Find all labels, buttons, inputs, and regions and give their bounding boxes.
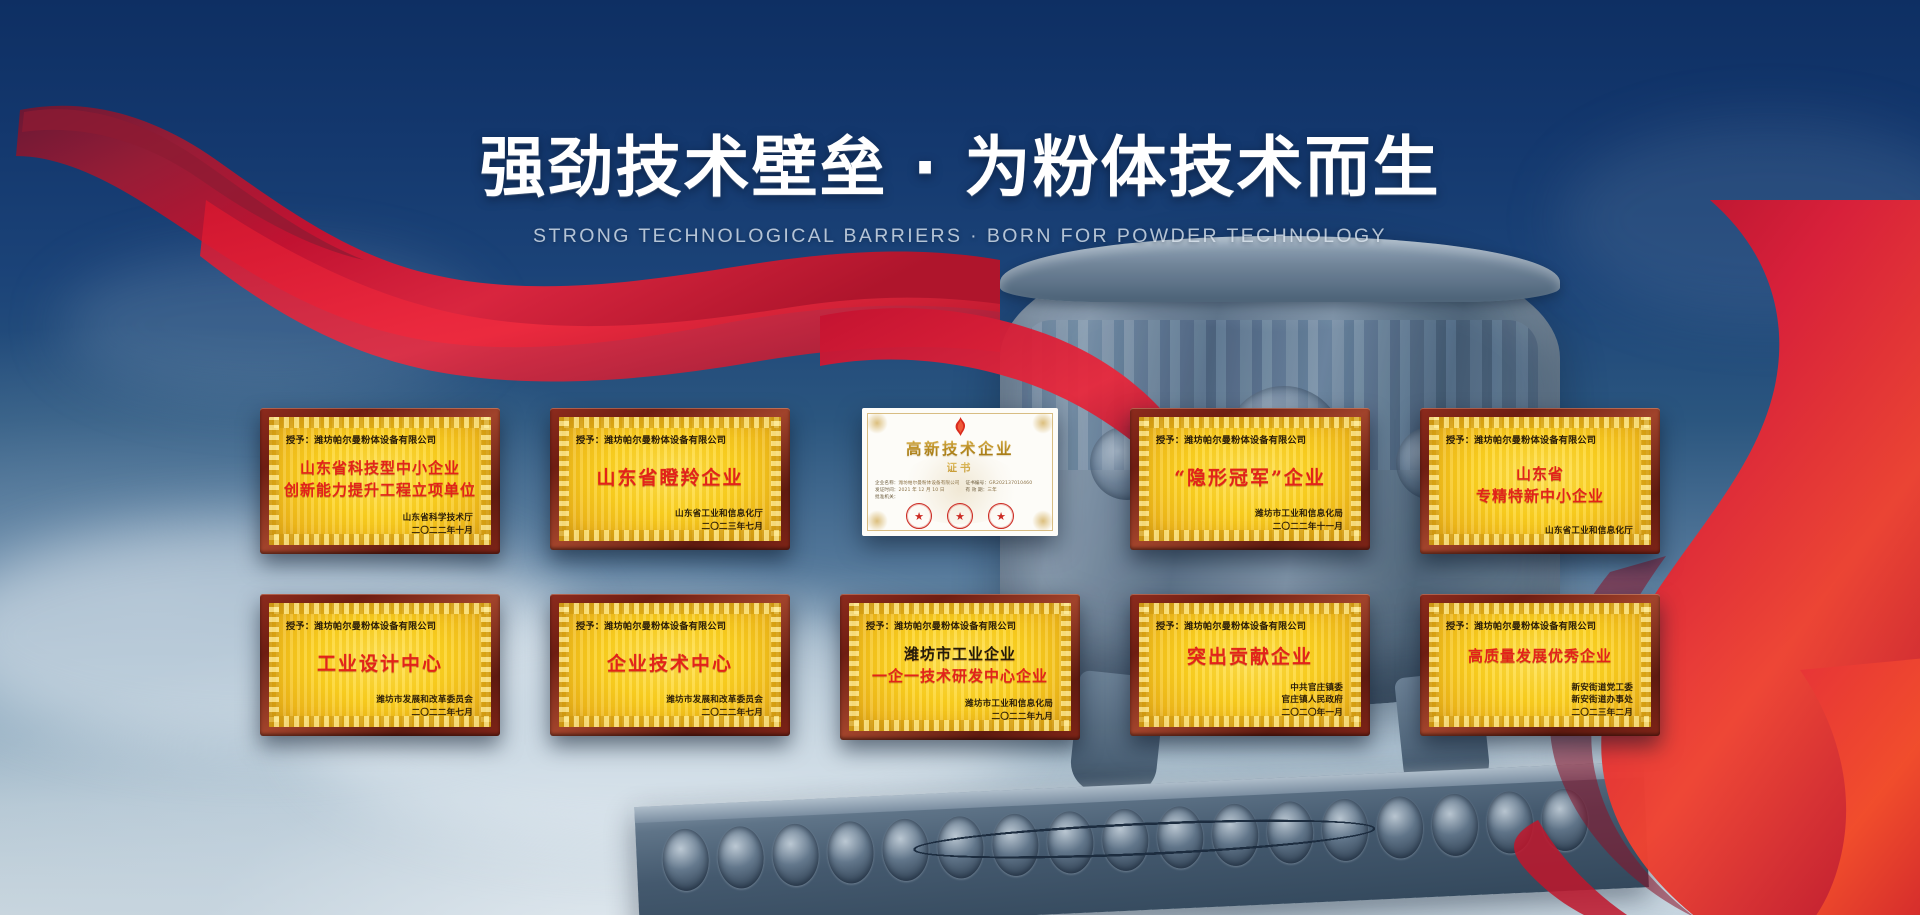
plaque-title: 高质量发展优秀企业 (1442, 630, 1638, 682)
certificate-field: 有 效 期：三年 (966, 487, 1045, 493)
medallion-icon (771, 823, 820, 887)
plaque-issuer: 潍坊市发展和改革委员会二〇二二年七月 (376, 694, 473, 719)
official-seal-icon: ★ (906, 503, 932, 529)
plaque-issuer-line: 中共官庄镇委 (1281, 682, 1343, 694)
certificate-field: 证书编号：GR202137010460 (966, 480, 1045, 486)
plaque-plate: 授予：潍坊帕尔曼粉体设备有限公司突出贡献企业中共官庄镇委官庄镇人民政府二〇二〇年… (1139, 603, 1361, 727)
plaque-issuer-line: 二〇二〇年一月 (1281, 707, 1343, 719)
award-plaque-shandong-specialized-sme[interactable]: 授予：潍坊帕尔曼粉体设备有限公司山东省专精特新中小企业山东省工业和信息化厅 (1420, 408, 1660, 554)
official-seal-icon: ★ (988, 503, 1014, 529)
plaque-issuer-line: 新安街道办事处 (1571, 694, 1633, 706)
plaque-title: 山东省科技型中小企业创新能力提升工程立项单位 (282, 444, 478, 512)
plaque-issuer-line: 二〇二三年七月 (675, 521, 763, 533)
certificate-subtitle: 证书 (947, 460, 974, 475)
plaque-issuer: 山东省工业和信息化厅二〇二三年七月 (675, 508, 763, 533)
award-cell: 授予：潍坊帕尔曼粉体设备有限公司“隐形冠军”企业潍坊市工业和信息化局二〇二二年十… (1105, 408, 1395, 554)
award-cell: 高新技术企业证书企业名称：潍坊帕尔曼粉体设备有限公司证书编号：GR2021370… (815, 408, 1105, 554)
plate-edge (849, 603, 859, 731)
awards-grid: 授予：潍坊帕尔曼粉体设备有限公司山东省科技型中小企业创新能力提升工程立项单位山东… (0, 408, 1920, 740)
plaque-title-line: 山东省瞪羚企业 (596, 463, 743, 490)
plaque-title-line: 突出贡献企业 (1187, 642, 1313, 669)
plate-edge (1641, 603, 1651, 727)
plaque-issuer: 中共官庄镇委官庄镇人民政府二〇二〇年一月 (1281, 682, 1343, 719)
plaque-issuer-line: 山东省工业和信息化厅 (675, 508, 763, 520)
award-plaque-weifang-one-enterprise-one-tech-rnd-center[interactable]: 授予：潍坊帕尔曼粉体设备有限公司潍坊市工业企业一企一技术研发中心企业潍坊市工业和… (840, 594, 1080, 740)
certificate-title: 高新技术企业 (906, 437, 1014, 459)
plaque-issuer: 潍坊市发展和改革委员会二〇二二年七月 (666, 694, 763, 719)
plate-edge (1061, 603, 1071, 731)
page-title: 强劲技术壁垒 · 为粉体技术而生 (0, 132, 1920, 205)
award-plaque-shandong-gazelle[interactable]: 授予：潍坊帕尔曼粉体设备有限公司山东省瞪羚企业山东省工业和信息化厅二〇二三年七月 (550, 408, 790, 550)
plaque-plate: 授予：潍坊帕尔曼粉体设备有限公司山东省专精特新中小企业山东省工业和信息化厅 (1429, 417, 1651, 545)
plate-edge (269, 603, 279, 727)
award-cell: 授予：潍坊帕尔曼粉体设备有限公司企业技术中心潍坊市发展和改革委员会二〇二二年七月 (525, 594, 815, 740)
plaque-issuer-line: 山东省科学技术厅 (403, 512, 473, 524)
plaque-title: 山东省瞪羚企业 (572, 444, 768, 508)
plaque-issuer-line: 二〇二二年十月 (403, 525, 473, 537)
plaque-title-line: 山东省 (1516, 463, 1564, 484)
award-cell: 授予：潍坊帕尔曼粉体设备有限公司山东省瞪羚企业山东省工业和信息化厅二〇二三年七月 (525, 408, 815, 554)
plaque-issuer-line: 二〇二二年七月 (666, 707, 763, 719)
plaque-title: 突出贡献企业 (1152, 630, 1348, 682)
certificate-seals: ★★★ (906, 503, 1014, 529)
certificate-fields: 企业名称：潍坊帕尔曼粉体设备有限公司证书编号：GR202137010460发证时… (871, 480, 1049, 500)
award-cell: 授予：潍坊帕尔曼粉体设备有限公司潍坊市工业企业一企一技术研发中心企业潍坊市工业和… (815, 594, 1105, 740)
headline-block: 强劲技术壁垒 · 为粉体技术而生 STRONG TECHNOLOGICAL BA… (0, 132, 1920, 248)
award-plaque-high-quality-development-excellent-enterprise[interactable]: 授予：潍坊帕尔曼粉体设备有限公司高质量发展优秀企业新安街道党工委新安街道办事处二… (1420, 594, 1660, 736)
plaque-plate: 授予：潍坊帕尔曼粉体设备有限公司“隐形冠军”企业潍坊市工业和信息化局二〇二二年十… (1139, 417, 1361, 541)
plate-edge (771, 417, 781, 541)
plaque-issuer: 潍坊市工业和信息化局二〇二二年十一月 (1255, 508, 1343, 533)
plaque-issuer-line: 潍坊市工业和信息化局 (1255, 508, 1343, 520)
award-cell: 授予：潍坊帕尔曼粉体设备有限公司工业设计中心潍坊市发展和改革委员会二〇二二年七月 (235, 594, 525, 740)
corner-ornament-icon (866, 412, 888, 434)
plaque-title-line: 潍坊市工业企业 (904, 643, 1016, 664)
plate-edge (1641, 417, 1651, 545)
award-plaque-hidden-champion[interactable]: 授予：潍坊帕尔曼粉体设备有限公司“隐形冠军”企业潍坊市工业和信息化局二〇二二年十… (1130, 408, 1370, 550)
plaque-plate: 授予：潍坊帕尔曼粉体设备有限公司潍坊市工业企业一企一技术研发中心企业潍坊市工业和… (849, 603, 1071, 731)
plate-edge (269, 417, 279, 545)
plaque-title: 工业设计中心 (282, 630, 478, 694)
plate-edge (1139, 603, 1149, 727)
award-cell: 授予：潍坊帕尔曼粉体设备有限公司山东省科技型中小企业创新能力提升工程立项单位山东… (235, 408, 525, 554)
plate-edge (1429, 417, 1439, 545)
plaque-issuer-line: 潍坊市工业和信息化局 (965, 698, 1053, 710)
plaque-plate: 授予：潍坊帕尔曼粉体设备有限公司企业技术中心潍坊市发展和改革委员会二〇二二年七月 (559, 603, 781, 727)
plate-edge (481, 603, 491, 727)
corner-ornament-icon (1032, 510, 1054, 532)
award-certificate-high-tech-enterprise-certificate[interactable]: 高新技术企业证书企业名称：潍坊帕尔曼粉体设备有限公司证书编号：GR2021370… (862, 408, 1058, 536)
plaque-issuer-line: 二〇二二年七月 (376, 707, 473, 719)
medallion-icon (661, 828, 710, 892)
plaque-issuer: 山东省工业和信息化厅 (1545, 525, 1633, 537)
plate-edge (559, 603, 569, 727)
award-plaque-outstanding-contribution-enterprise[interactable]: 授予：潍坊帕尔曼粉体设备有限公司突出贡献企业中共官庄镇委官庄镇人民政府二〇二〇年… (1130, 594, 1370, 736)
plate-edge (559, 417, 569, 541)
plaque-plate: 授予：潍坊帕尔曼粉体设备有限公司高质量发展优秀企业新安街道党工委新安街道办事处二… (1429, 603, 1651, 727)
plaque-issuer-line: 二〇二二年九月 (965, 711, 1053, 723)
medallion-icon (826, 820, 875, 884)
plaque-title-line: 专精特新中小企业 (1476, 485, 1604, 506)
plaque-issuer: 山东省科学技术厅二〇二二年十月 (403, 512, 473, 537)
plaque-plate: 授予：潍坊帕尔曼粉体设备有限公司山东省瞪羚企业山东省工业和信息化厅二〇二三年七月 (559, 417, 781, 541)
medallion-icon (1540, 788, 1589, 852)
plaque-issuer-line: 二〇二二年十一月 (1255, 521, 1343, 533)
award-plaque-enterprise-technology-center[interactable]: 授予：潍坊帕尔曼粉体设备有限公司企业技术中心潍坊市发展和改革委员会二〇二二年七月 (550, 594, 790, 736)
plaque-title: 山东省专精特新中小企业 (1442, 444, 1638, 525)
plaque-title-line: 一企一技术研发中心企业 (872, 665, 1048, 686)
plate-edge (1351, 603, 1361, 727)
award-cell: 授予：潍坊帕尔曼粉体设备有限公司高质量发展优秀企业新安街道党工委新安街道办事处二… (1395, 594, 1685, 740)
plaque-issuer: 潍坊市工业和信息化局二〇二二年九月 (965, 698, 1053, 723)
plaque-issuer-line: 官庄镇人民政府 (1281, 694, 1343, 706)
plaque-title-line: 高质量发展优秀企业 (1468, 645, 1612, 666)
plaque-issuer-line: 新安街道党工委 (1571, 682, 1633, 694)
plate-edge (481, 417, 491, 545)
flame-emblem-icon (952, 417, 969, 436)
plaque-issuer-line: 山东省工业和信息化厅 (1545, 525, 1633, 537)
plaque-title-line: “隐形冠军”企业 (1174, 463, 1326, 490)
plaque-title-line: 创新能力提升工程立项单位 (284, 479, 476, 500)
plaque-issuer-line: 二〇二三年二月 (1571, 707, 1633, 719)
plaque-issuer-line: 潍坊市发展和改革委员会 (666, 694, 763, 706)
plate-edge (771, 603, 781, 727)
medallion-icon (1376, 795, 1425, 859)
plate-edge (1429, 603, 1439, 727)
corner-ornament-icon (866, 510, 888, 532)
plaque-title-line: 工业设计中心 (317, 649, 443, 676)
plaque-issuer: 新安街道党工委新安街道办事处二〇二三年二月 (1571, 682, 1633, 719)
plaque-plate: 授予：潍坊帕尔曼粉体设备有限公司工业设计中心潍坊市发展和改革委员会二〇二二年七月 (269, 603, 491, 727)
medallion-icon (1431, 793, 1480, 857)
plaque-issuer-line: 潍坊市发展和改革委员会 (376, 694, 473, 706)
certificate-field: 发证时间：2021 年 12 月 10 日 (875, 487, 960, 493)
corner-ornament-icon (1032, 412, 1054, 434)
plaque-title: 企业技术中心 (572, 630, 768, 694)
plate-edge (1139, 417, 1149, 541)
medallion-icon (716, 825, 765, 889)
certificate-field: 批准机关： (875, 494, 960, 500)
plate-edge (1351, 417, 1361, 541)
certificate-field: 企业名称：潍坊帕尔曼粉体设备有限公司 (875, 480, 960, 486)
plaque-title-line: 企业技术中心 (607, 649, 733, 676)
award-plaque-industrial-design-center[interactable]: 授予：潍坊帕尔曼粉体设备有限公司工业设计中心潍坊市发展和改革委员会二〇二二年七月 (260, 594, 500, 736)
official-seal-icon: ★ (947, 503, 973, 529)
award-cell: 授予：潍坊帕尔曼粉体设备有限公司突出贡献企业中共官庄镇委官庄镇人民政府二〇二〇年… (1105, 594, 1395, 740)
award-cell: 授予：潍坊帕尔曼粉体设备有限公司山东省专精特新中小企业山东省工业和信息化厅 (1395, 408, 1685, 554)
medallion-icon (1485, 790, 1534, 854)
plaque-title: 潍坊市工业企业一企一技术研发中心企业 (862, 630, 1058, 698)
plaque-title: “隐形冠军”企业 (1152, 444, 1348, 508)
page-subtitle: STRONG TECHNOLOGICAL BARRIERS · BORN FOR… (0, 225, 1920, 248)
award-plaque-shandong-sci-tech-sme[interactable]: 授予：潍坊帕尔曼粉体设备有限公司山东省科技型中小企业创新能力提升工程立项单位山东… (260, 408, 500, 554)
honors-banner: 强劲技术壁垒 · 为粉体技术而生 STRONG TECHNOLOGICAL BA… (0, 0, 1920, 915)
plaque-title-line: 山东省科技型中小企业 (300, 457, 460, 478)
plaque-plate: 授予：潍坊帕尔曼粉体设备有限公司山东省科技型中小企业创新能力提升工程立项单位山东… (269, 417, 491, 545)
